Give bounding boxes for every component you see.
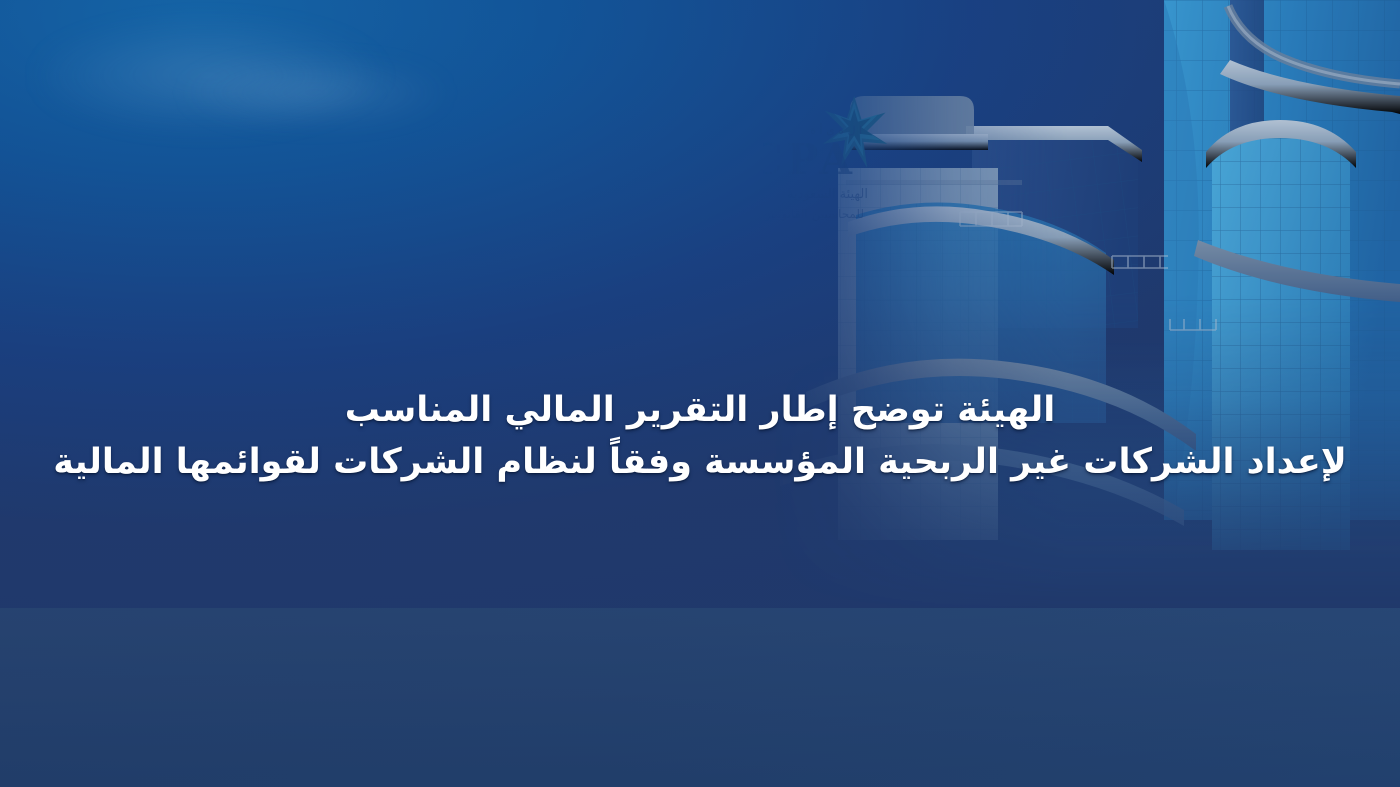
headline-line-1: الهيئة توضح إطار التقرير المالي المناسب: [28, 386, 1372, 434]
headline: الهيئة توضح إطار التقرير المالي المناسب …: [0, 386, 1400, 490]
svg-text:SOCPA: SOCPA: [760, 135, 856, 184]
socpa-building-image: ا ل ه ي أ ة SOCPA الهيئة السعودية للمحاس…: [760, 0, 1400, 640]
announcement-banner: ا ل ه ي أ ة SOCPA الهيئة السعودية للمحاس…: [0, 0, 1400, 787]
headline-line-2: لإعداد الشركات غير الربحية المؤسسة وفقاً…: [28, 434, 1372, 490]
svg-text:الهيئة السعودية: الهيئة السعودية: [787, 187, 868, 202]
cloud-wisp-lower: [150, 45, 480, 140]
bottom-band: [0, 608, 1400, 787]
svg-text:للمحاسبين القانونيين: للمحاسبين القانونيين: [762, 207, 864, 222]
